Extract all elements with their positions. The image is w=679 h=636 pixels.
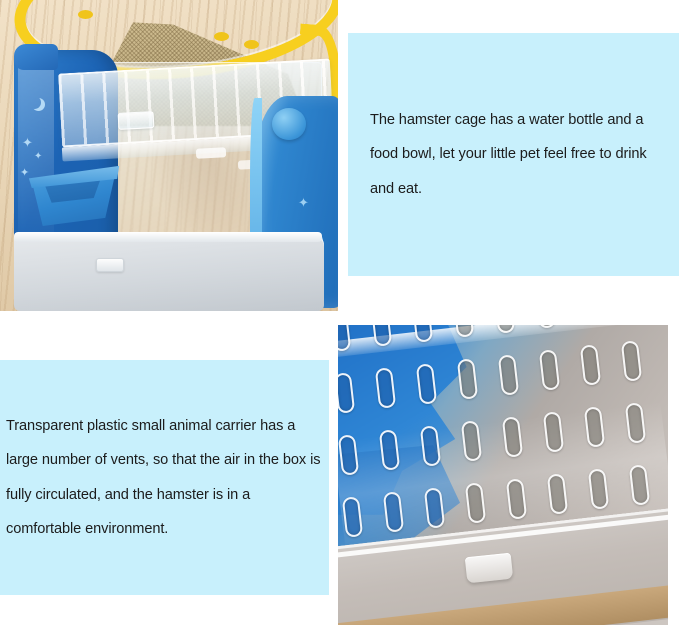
ventilation-slot bbox=[539, 349, 560, 391]
star-decoration: ✦ bbox=[34, 152, 42, 162]
infographic-canvas: ✦ ✦ ✦ ✦ ✦ The hamster cage has a water b… bbox=[0, 0, 679, 636]
ventilation-slot bbox=[375, 368, 396, 410]
star-decoration: ✦ bbox=[20, 168, 29, 179]
ventilation-slot bbox=[338, 372, 355, 414]
ventilation-slot bbox=[379, 430, 400, 472]
ventilation-slot bbox=[461, 420, 482, 462]
ventilation-slot bbox=[371, 325, 392, 347]
product-photo-vents bbox=[338, 325, 668, 625]
feature-text-panel-water-bottle: The hamster cage has a water bottle and … bbox=[348, 33, 679, 276]
ventilation-slot bbox=[498, 354, 519, 396]
tray-latch-clip bbox=[96, 258, 124, 272]
ventilation-slot bbox=[453, 325, 474, 338]
ventilation-slot bbox=[494, 325, 515, 333]
water-bottle-spout bbox=[14, 44, 58, 70]
latch-clip bbox=[465, 553, 513, 584]
ventilation-slot bbox=[629, 464, 650, 506]
ventilation-slot bbox=[547, 473, 568, 515]
ventilation-slot bbox=[342, 496, 363, 538]
lid-clip bbox=[196, 147, 226, 159]
ventilation-slot bbox=[424, 487, 445, 529]
ventilation-slot bbox=[416, 363, 437, 405]
ventilation-slot bbox=[543, 411, 564, 453]
handle-nub bbox=[214, 32, 229, 41]
feature-text-water-bottle: The hamster cage has a water bottle and … bbox=[370, 103, 657, 206]
ventilation-slot bbox=[338, 325, 351, 352]
base-tray bbox=[14, 235, 324, 311]
ventilation-slot bbox=[338, 434, 359, 476]
feature-text-vents: Transparent plastic small animal carrier… bbox=[6, 409, 321, 547]
moon-decoration bbox=[28, 96, 41, 109]
star-decoration: ✦ bbox=[22, 136, 33, 149]
ventilation-slot bbox=[420, 425, 441, 467]
ventilation-slot bbox=[621, 340, 642, 382]
ventilation-slot bbox=[535, 325, 556, 329]
ventilation-slot bbox=[580, 345, 601, 387]
ventilation-slot bbox=[457, 358, 478, 400]
product-photo-cage: ✦ ✦ ✦ ✦ ✦ bbox=[0, 0, 338, 311]
ventilation-slot bbox=[584, 407, 605, 449]
lid-clip bbox=[118, 111, 155, 130]
handle-nub bbox=[244, 40, 259, 49]
base-tray-lip bbox=[14, 232, 322, 242]
feature-text-panel-vents: Transparent plastic small animal carrier… bbox=[0, 360, 329, 595]
ventilation-slot bbox=[383, 492, 404, 534]
handle-nub bbox=[78, 10, 93, 19]
ventilation-slot bbox=[465, 482, 486, 524]
handle-pivot-hinge bbox=[272, 108, 306, 140]
ventilation-slot bbox=[412, 325, 433, 343]
ventilation-slot bbox=[625, 402, 646, 444]
ventilation-slot bbox=[506, 478, 527, 520]
ventilation-slot bbox=[588, 469, 609, 511]
star-decoration: ✦ bbox=[298, 196, 309, 209]
ventilation-slot bbox=[502, 416, 523, 458]
